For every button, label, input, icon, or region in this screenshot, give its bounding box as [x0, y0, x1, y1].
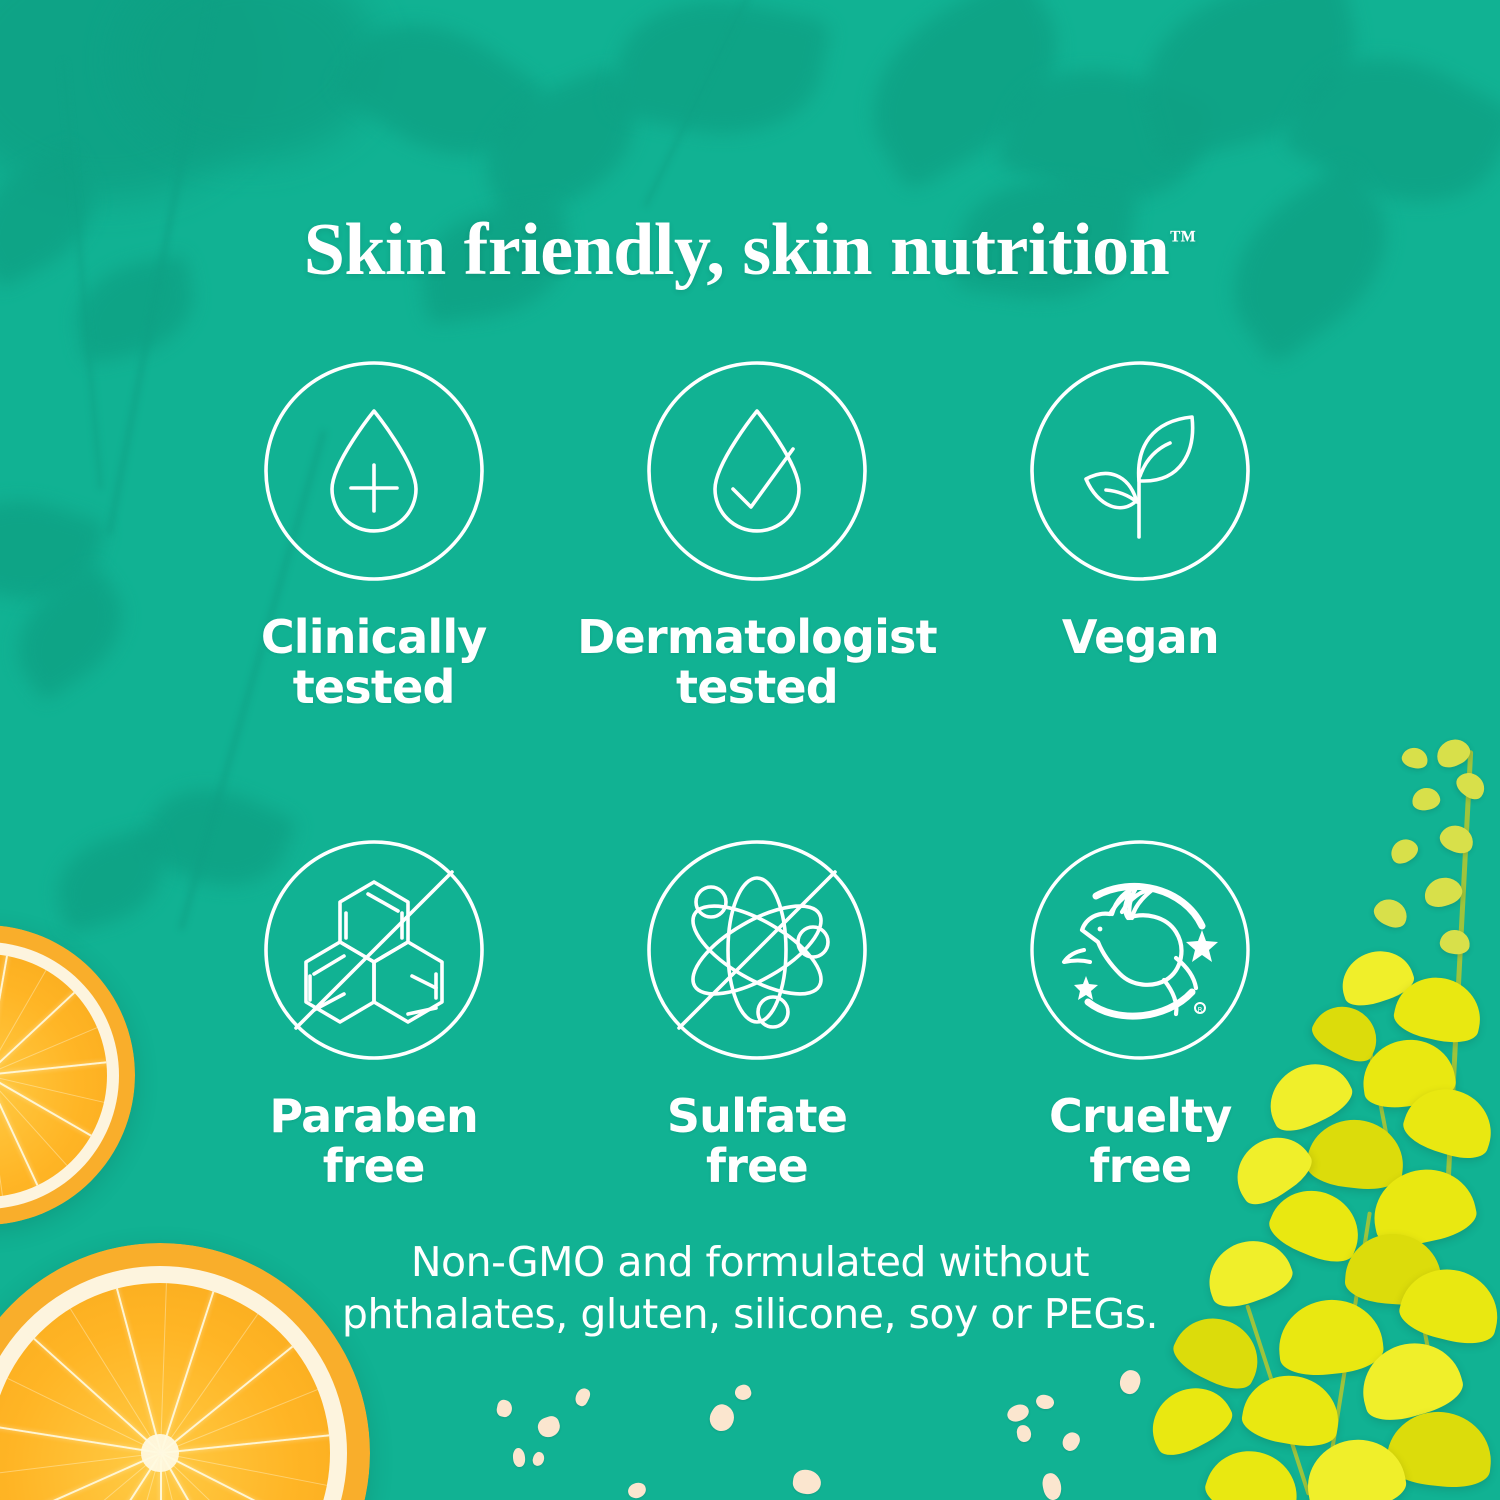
- claim-label: Clinically tested: [261, 613, 487, 712]
- yellow-flowers-decoration: [1170, 740, 1500, 1500]
- page-title: Skin friendly, skin nutrition™: [0, 213, 1500, 287]
- plant-leaves-icon: [1024, 355, 1256, 587]
- claim-vegan: Vegan: [949, 355, 1332, 712]
- droplet-plus-icon: [258, 355, 490, 587]
- trademark-symbol: ™: [1169, 224, 1196, 254]
- product-claims-banner: Skin friendly, skin nutrition™ Clinicall…: [0, 0, 1500, 1500]
- claim-dermatologist-tested: Dermatologist tested: [565, 355, 948, 712]
- claim-clinically-tested: Clinically tested: [182, 355, 565, 712]
- droplet-check-icon: [641, 355, 873, 587]
- orange-slice-top: [0, 925, 135, 1225]
- atom-no-icon: [641, 834, 873, 1066]
- claim-label: Dermatologist tested: [577, 613, 937, 712]
- claim-label: Vegan: [1062, 613, 1219, 663]
- claim-label: Paraben free: [269, 1092, 478, 1191]
- claim-sulfate-free: Sulfate free: [565, 834, 948, 1191]
- claims-grid: Clinically tested Dermatologist tested: [182, 355, 1332, 1192]
- benzene-rings-no-icon: [258, 834, 490, 1066]
- claim-label: Sulfate free: [667, 1092, 847, 1191]
- formulation-note: Non-GMO and formulated without phthalate…: [250, 1237, 1250, 1340]
- claim-paraben-free: Paraben free: [182, 834, 565, 1191]
- page-title-text: Skin friendly, skin nutrition: [304, 209, 1170, 291]
